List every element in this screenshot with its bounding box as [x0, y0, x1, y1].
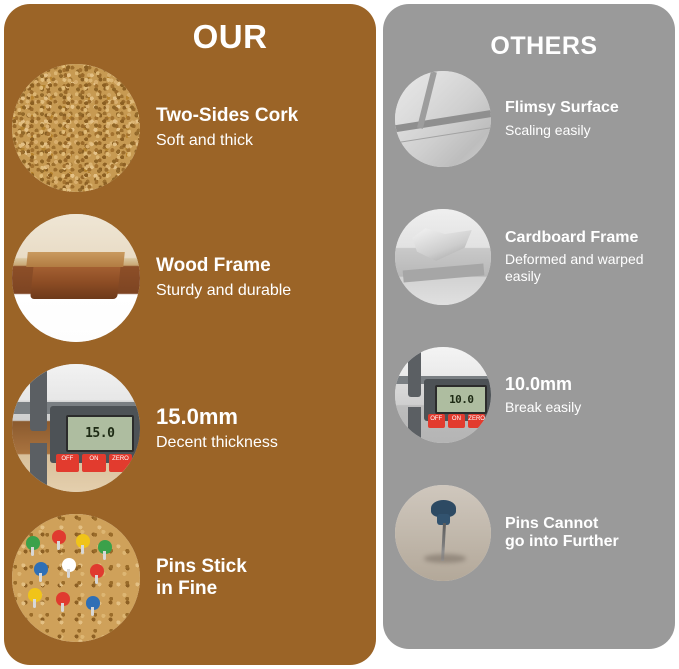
- pin-shadow: [424, 554, 466, 563]
- others-feature-text-thickness: 10.0mm Break easily: [505, 374, 581, 415]
- caliper-button-zero: ZERO: [109, 454, 133, 472]
- flimsy-grey-surface-thumb: [395, 71, 491, 167]
- pin-yellow-1: [76, 534, 90, 548]
- our-feature-row-pins: Pins Stick in Fine: [4, 514, 376, 642]
- our-panel-title: OUR: [4, 4, 376, 56]
- our-feature-row-wood: Wood Frame Sturdy and durable: [4, 214, 376, 342]
- pin-red-2: [90, 564, 104, 578]
- others-panel-title: OTHERS: [383, 4, 675, 61]
- pin-white-1: [62, 558, 76, 572]
- pin-not-piercing-thumb: [395, 485, 491, 581]
- cardboard-tear-thumb: [395, 209, 491, 305]
- caliper-button-off: OFF: [56, 454, 80, 472]
- digital-caliper-grey-thumb: 10.0 OFF ON ZERO: [395, 347, 491, 443]
- pin-red-1: [52, 530, 66, 544]
- others-feature-row-surface: Flimsy Surface Scaling easily: [383, 71, 675, 167]
- our-feature-text-thickness: 15.0mm Decent thickness: [156, 404, 278, 452]
- caliper-reading: 15.0: [66, 415, 134, 452]
- others-feature-subtitle: Deformed and warped easily: [505, 251, 655, 285]
- digital-caliper-thumb: 15.0 OFF ON ZERO: [12, 364, 140, 492]
- our-feature-subtitle: Sturdy and durable: [156, 281, 291, 300]
- others-feature-subtitle: Break easily: [505, 399, 581, 416]
- wood-frame-corner-thumb: [12, 214, 140, 342]
- push-pins-in-cork-thumb: [12, 514, 140, 642]
- others-feature-title: 10.0mm: [505, 374, 581, 395]
- others-feature-text-surface: Flimsy Surface Scaling easily: [505, 99, 619, 138]
- cork-granules-thumb: [12, 64, 140, 192]
- others-feature-title: Cardboard Frame: [505, 229, 655, 247]
- caliper-button-on: ON: [82, 454, 106, 472]
- others-feature-row-frame: Cardboard Frame Deformed and warped easi…: [383, 209, 675, 305]
- others-feature-text-frame: Cardboard Frame Deformed and warped easi…: [505, 229, 655, 285]
- pin-blue-1: [34, 562, 48, 576]
- others-panel: OTHERS Flimsy Surface Scaling easily Car…: [383, 4, 675, 649]
- caliper-buttons: OFF ON ZERO: [428, 414, 486, 427]
- others-feature-title: Flimsy Surface: [505, 99, 619, 117]
- comparison-board: OUR Two-Sides Cork Soft and thick Wood F…: [0, 0, 679, 669]
- our-feature-text-pins: Pins Stick in Fine: [156, 556, 247, 600]
- pin-red-3: [56, 592, 70, 606]
- our-feature-row-thickness: 15.0 OFF ON ZERO 15.0mm Decent thickness: [4, 364, 376, 492]
- our-feature-subtitle: Decent thickness: [156, 433, 278, 452]
- caliper-button-zero: ZERO: [468, 414, 485, 427]
- caliper-button-on: ON: [448, 414, 465, 427]
- our-feature-subtitle: Soft and thick: [156, 131, 298, 150]
- others-feature-title: Pins Cannot: [505, 515, 619, 533]
- our-feature-title: 15.0mm: [156, 404, 278, 429]
- caliper-buttons: OFF ON ZERO: [56, 454, 133, 472]
- our-feature-title: Two-Sides Cork: [156, 105, 298, 127]
- our-feature-title-line2: in Fine: [156, 578, 247, 600]
- others-rows: Flimsy Surface Scaling easily Cardboard …: [383, 71, 675, 581]
- our-feature-title: Wood Frame: [156, 255, 291, 277]
- others-feature-title-line2: go into Further: [505, 533, 619, 551]
- our-rows: Two-Sides Cork Soft and thick Wood Frame…: [4, 64, 376, 642]
- caliper-reading: 10.0: [435, 385, 487, 414]
- our-panel: OUR Two-Sides Cork Soft and thick Wood F…: [4, 4, 376, 665]
- caliper-button-off: OFF: [428, 414, 445, 427]
- our-feature-row-cork: Two-Sides Cork Soft and thick: [4, 64, 376, 192]
- pin-green-2: [98, 540, 112, 554]
- pin-blue-2: [86, 596, 100, 610]
- our-feature-text-cork: Two-Sides Cork Soft and thick: [156, 105, 298, 150]
- pin-green-1: [26, 536, 40, 550]
- our-feature-title: Pins Stick: [156, 556, 247, 578]
- others-feature-row-pins: Pins Cannot go into Further: [383, 485, 675, 581]
- others-feature-text-pins: Pins Cannot go into Further: [505, 515, 619, 552]
- others-feature-row-thickness: 10.0 OFF ON ZERO 10.0mm Break easily: [383, 347, 675, 443]
- our-feature-text-wood: Wood Frame Sturdy and durable: [156, 255, 291, 300]
- pin-yellow-2: [28, 588, 42, 602]
- others-feature-subtitle: Scaling easily: [505, 122, 619, 139]
